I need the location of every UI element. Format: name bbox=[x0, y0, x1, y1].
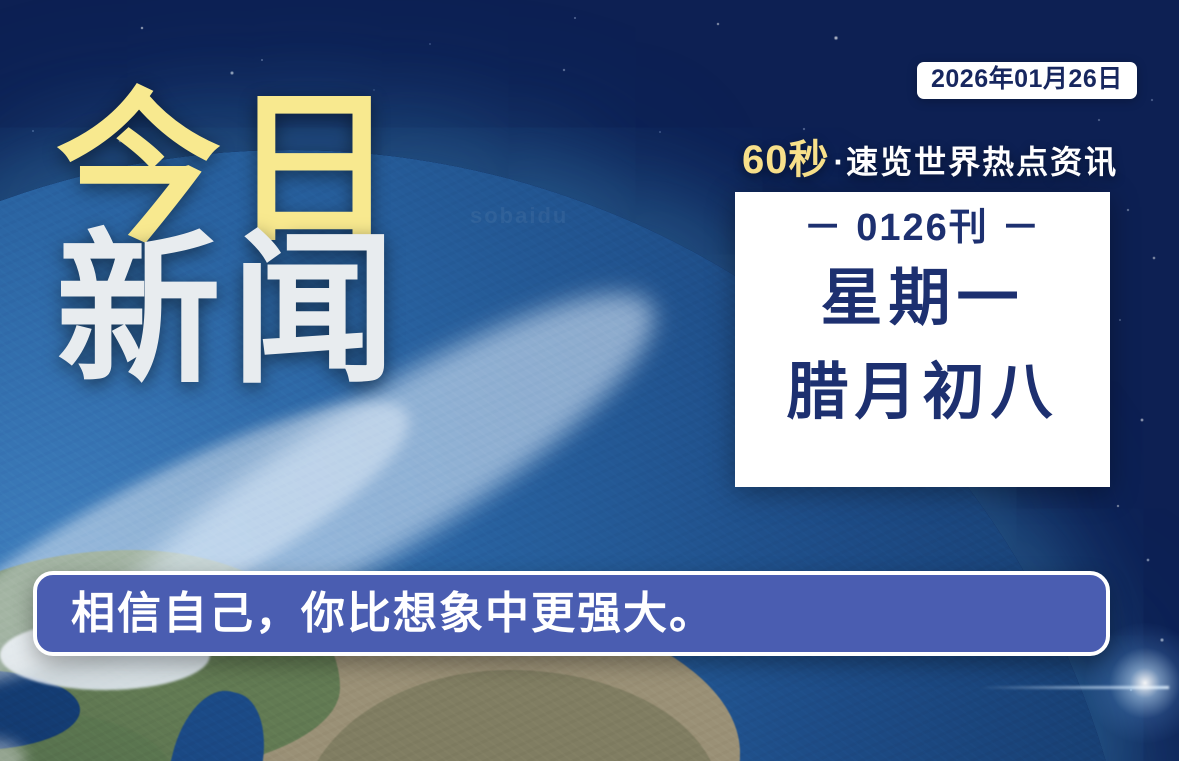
poster-canvas: sobaidu 2026年01月26日 今日 新闻 60秒·速览世界热点资讯 －… bbox=[0, 0, 1179, 761]
date-badge: 2026年01月26日 bbox=[917, 62, 1137, 99]
watermark-text: sobaidu bbox=[470, 203, 568, 229]
lunar-date: 腊月初八 bbox=[786, 362, 1058, 424]
tagline-description: ·速览世界热点资讯 bbox=[834, 144, 1119, 180]
poster-title: 今日 新闻 bbox=[56, 92, 406, 388]
issue-number: － 0126刊 － bbox=[804, 208, 1042, 250]
issue-info-card: － 0126刊 － 星期一 腊月初八 bbox=[735, 192, 1110, 487]
quote-banner: 相信自己，你比想象中更强大。 bbox=[33, 571, 1110, 656]
quote-text: 相信自己，你比想象中更强大。 bbox=[71, 592, 715, 636]
title-line-xinwen: 新闻 bbox=[56, 233, 406, 388]
tagline-seconds: 60秒 bbox=[742, 138, 830, 182]
tagline: 60秒·速览世界热点资讯 bbox=[742, 140, 1118, 180]
weekday-label: 星期一 bbox=[820, 268, 1024, 330]
